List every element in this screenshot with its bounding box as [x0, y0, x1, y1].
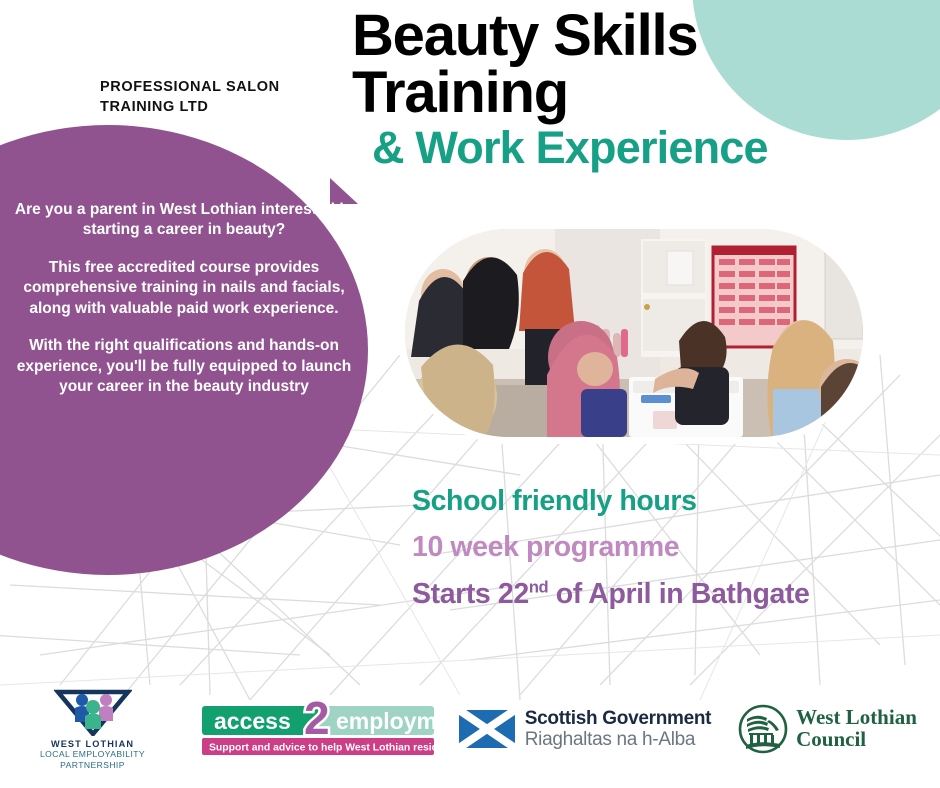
- poster-canvas: PROFESSIONAL SALON TRAINING LTD Beauty S…: [0, 0, 940, 788]
- headline-line-1: Beauty Skills: [352, 8, 912, 65]
- headline-line-3: & Work Experience: [352, 124, 912, 171]
- logo-access2employment: access employment 2 2 Support and advice…: [185, 700, 450, 758]
- start-date-prefix: Starts 22: [412, 578, 529, 610]
- wlep-subtitle-2: PARTNERSHIP: [40, 760, 145, 770]
- svg-text:Support and advice to help Wes: Support and advice to help West Lothian …: [209, 743, 436, 754]
- scottish-government-line-1: Scottish Government: [525, 708, 711, 729]
- access2employment-emblem-icon: access employment 2 2 Support and advice…: [200, 700, 436, 758]
- brand-line-1: PROFESSIONAL SALON: [100, 78, 350, 98]
- highlight-school-hours: School friendly hours: [412, 485, 882, 517]
- logo-west-lothian-council: West Lothian Council: [720, 704, 935, 754]
- page-title: Beauty Skills Training & Work Experience: [352, 8, 912, 171]
- headline-line-2: Training: [352, 65, 912, 122]
- course-description: Are you a parent in West Lothian interes…: [8, 200, 360, 398]
- wlep-emblem-icon: [54, 688, 132, 736]
- start-date-ordinal: nd: [529, 577, 548, 596]
- wlep-title: WEST LOTHIAN: [40, 739, 145, 749]
- highlight-start-date: Starts 22nd of April in Bathgate: [412, 578, 882, 610]
- west-lothian-council-crest-icon: [738, 704, 788, 754]
- blurb-paragraph-3: With the right qualifications and hands-…: [8, 336, 360, 397]
- highlight-programme-length: 10 week programme: [412, 531, 882, 563]
- training-photo-frame: [398, 222, 870, 444]
- svg-text:access: access: [214, 708, 291, 734]
- saltire-flag-icon: [459, 710, 515, 748]
- partner-logo-strip: WEST LOTHIAN LOCAL EMPLOYABILITY PARTNER…: [0, 680, 940, 778]
- logo-scottish-government: Scottish Government Riaghaltas na h-Alba: [450, 708, 720, 751]
- training-photo: [405, 229, 863, 437]
- wlep-subtitle-1: LOCAL EMPLOYABILITY: [40, 749, 145, 759]
- start-date-suffix: of April in Bathgate: [548, 578, 809, 610]
- scottish-government-line-2: Riaghaltas na h-Alba: [525, 729, 711, 750]
- brand-line-2: TRAINING LTD: [100, 98, 350, 118]
- blurb-paragraph-2: This free accredited course provides com…: [8, 258, 360, 319]
- svg-text:2: 2: [304, 700, 330, 744]
- svg-text:employment: employment: [336, 708, 436, 734]
- blurb-paragraph-1: Are you a parent in West Lothian interes…: [8, 200, 360, 241]
- brand-name: PROFESSIONAL SALON TRAINING LTD: [100, 78, 350, 117]
- west-lothian-council-line-2: Council: [796, 729, 917, 751]
- logo-west-lothian-employability-partnership: WEST LOTHIAN LOCAL EMPLOYABILITY PARTNER…: [0, 688, 185, 770]
- course-highlights: School friendly hours 10 week programme …: [412, 485, 882, 610]
- west-lothian-council-line-1: West Lothian: [796, 707, 917, 729]
